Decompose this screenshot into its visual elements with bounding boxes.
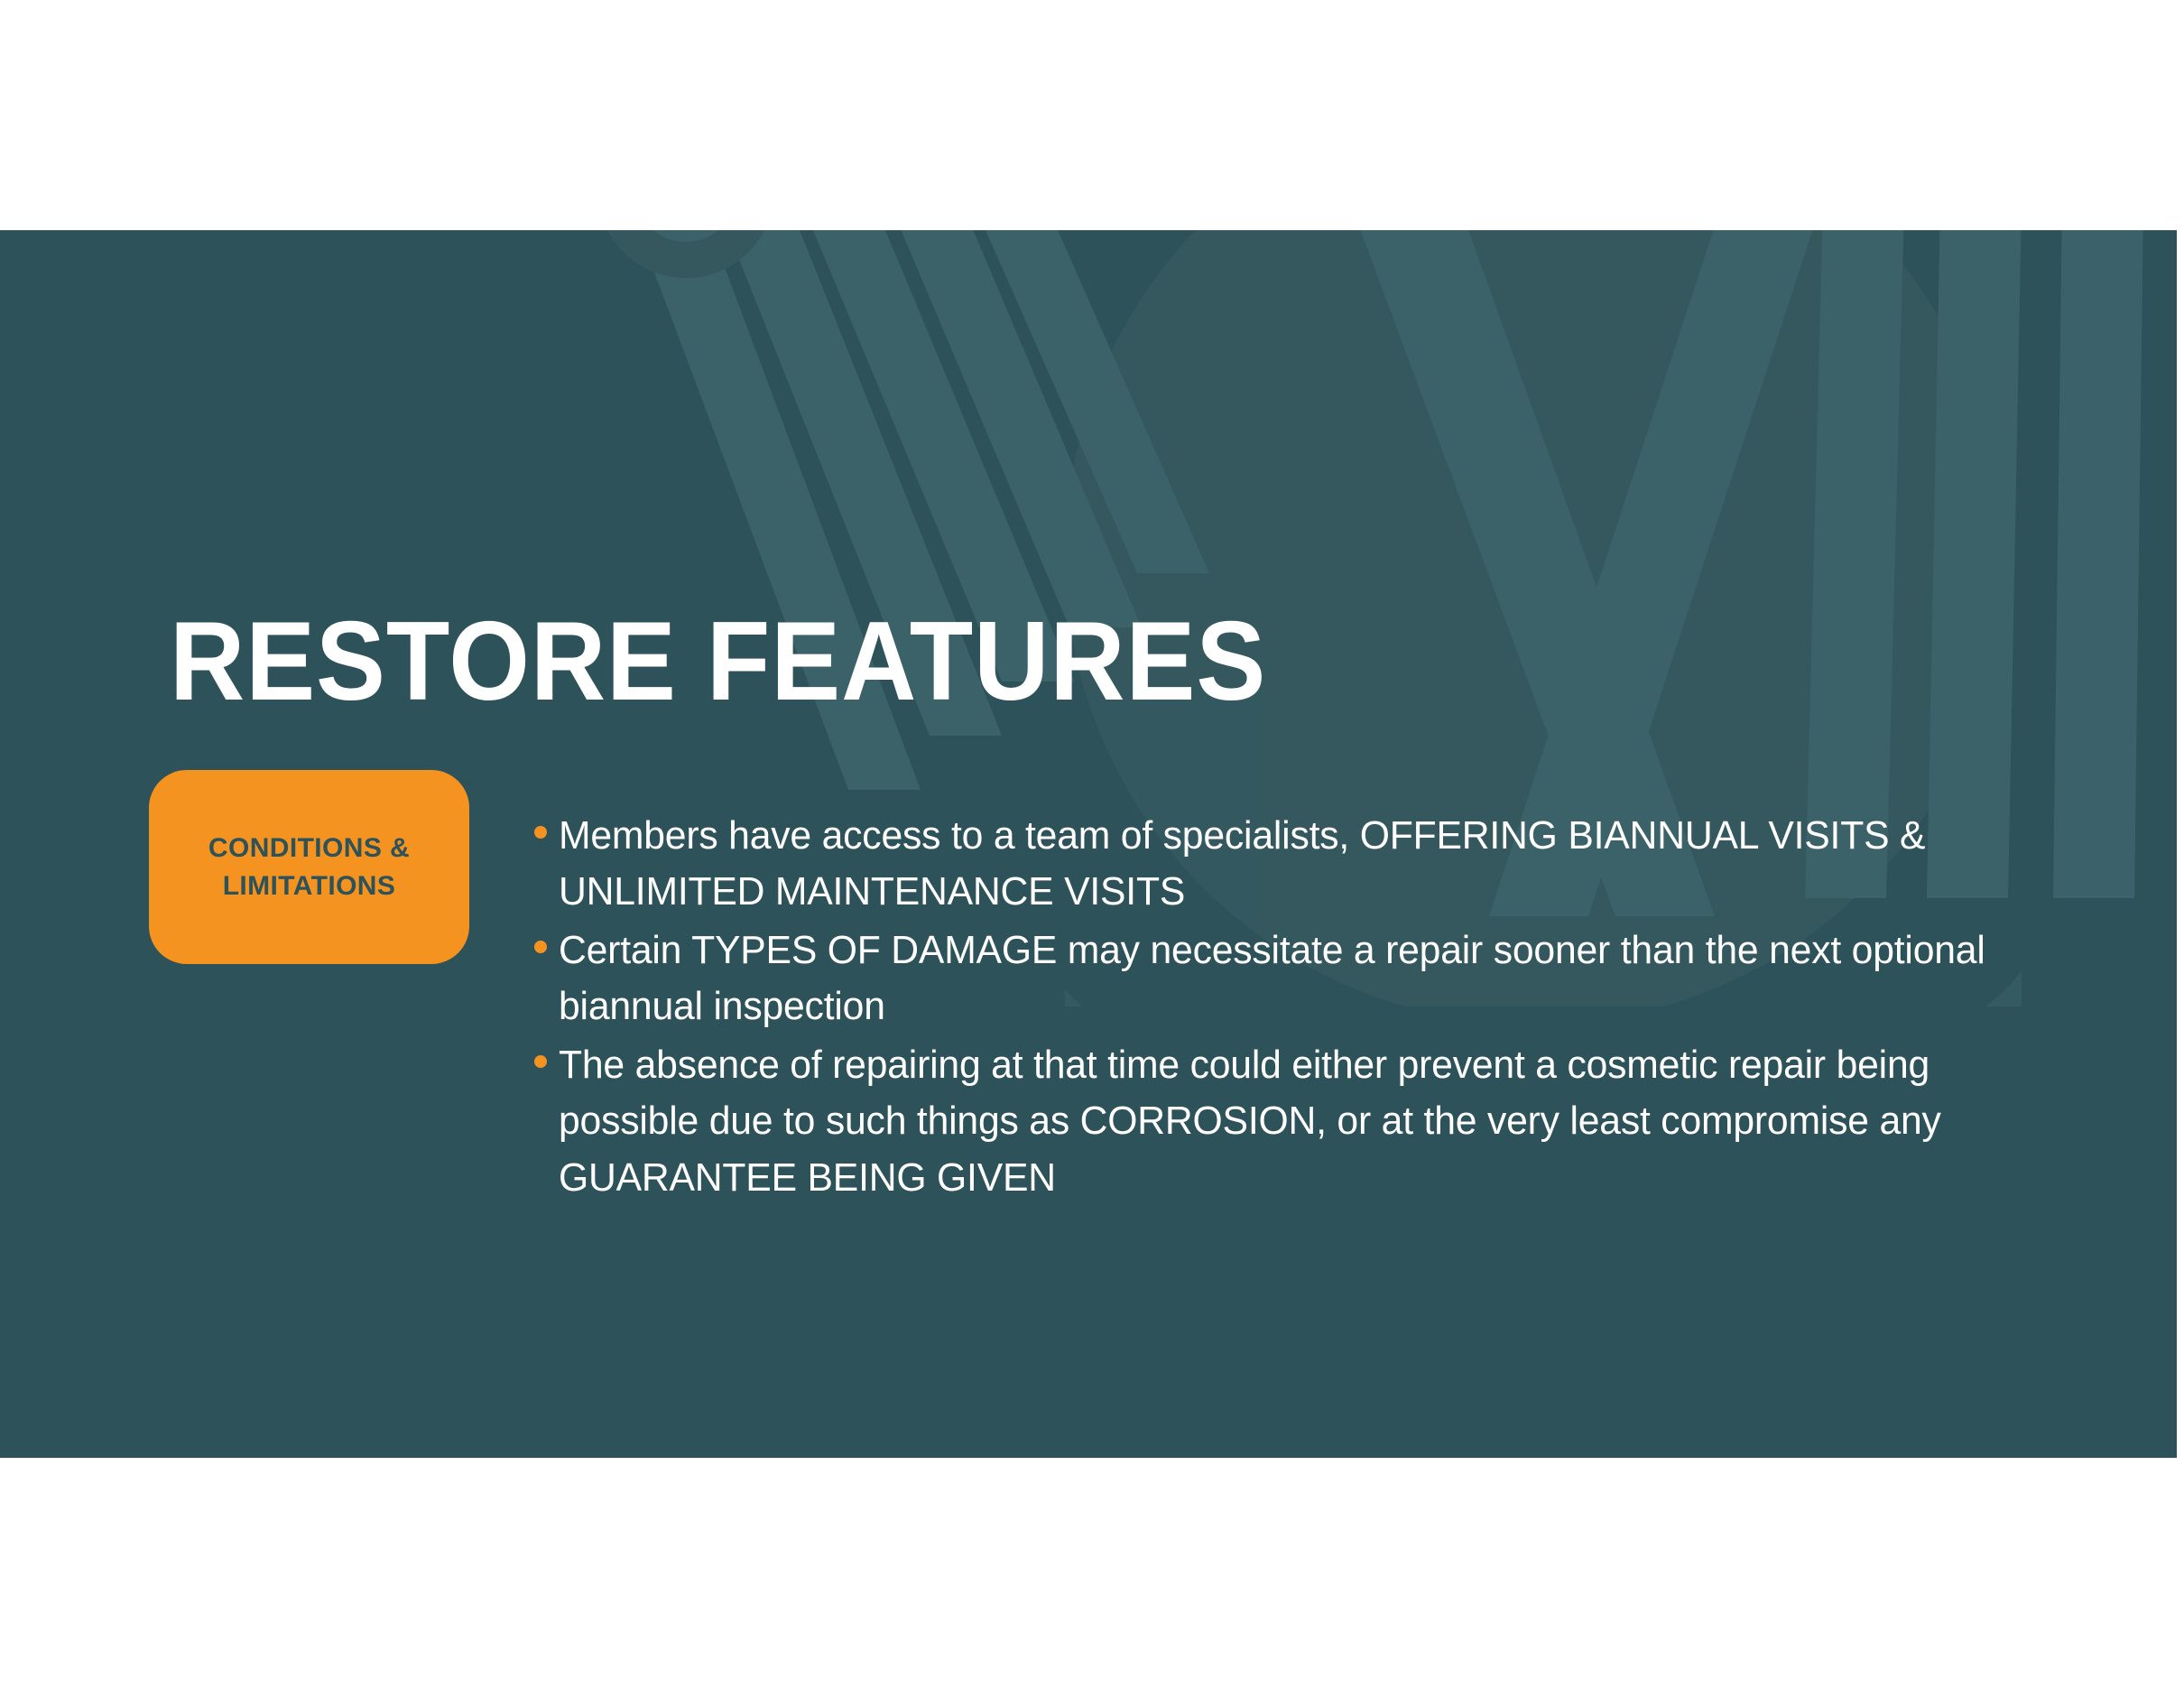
list-item: Members have access to a team of special… <box>534 808 2059 921</box>
callout-label: CONDITIONS & LIMITATIONS <box>196 830 422 904</box>
bullet-dot-icon <box>534 826 547 839</box>
bullet-dot-icon <box>534 941 547 953</box>
slide-content-panel: RESTORE FEATURES CONDITIONS & LIMITATION… <box>0 230 2177 1458</box>
list-item: The absence of repairing at that time co… <box>534 1037 2059 1206</box>
conditions-limitations-callout: CONDITIONS & LIMITATIONS <box>149 770 469 964</box>
list-item: Certain TYPES OF DAMAGE may necessitate … <box>534 923 2059 1035</box>
callout-label-line-2: LIMITATIONS <box>223 871 396 901</box>
page-title: RESTORE FEATURES <box>170 603 1266 720</box>
slide-canvas: RESTORE FEATURES CONDITIONS & LIMITATION… <box>0 0 2184 1688</box>
list-item-text: Members have access to a team of special… <box>559 808 2014 921</box>
list-item-text: Certain TYPES OF DAMAGE may necessitate … <box>559 923 2014 1035</box>
feature-bullet-list: Members have access to a team of special… <box>534 808 2059 1208</box>
callout-label-line-1: CONDITIONS & <box>208 833 410 863</box>
list-item-text: The absence of repairing at that time co… <box>559 1037 2014 1206</box>
bullet-dot-icon <box>534 1055 547 1068</box>
